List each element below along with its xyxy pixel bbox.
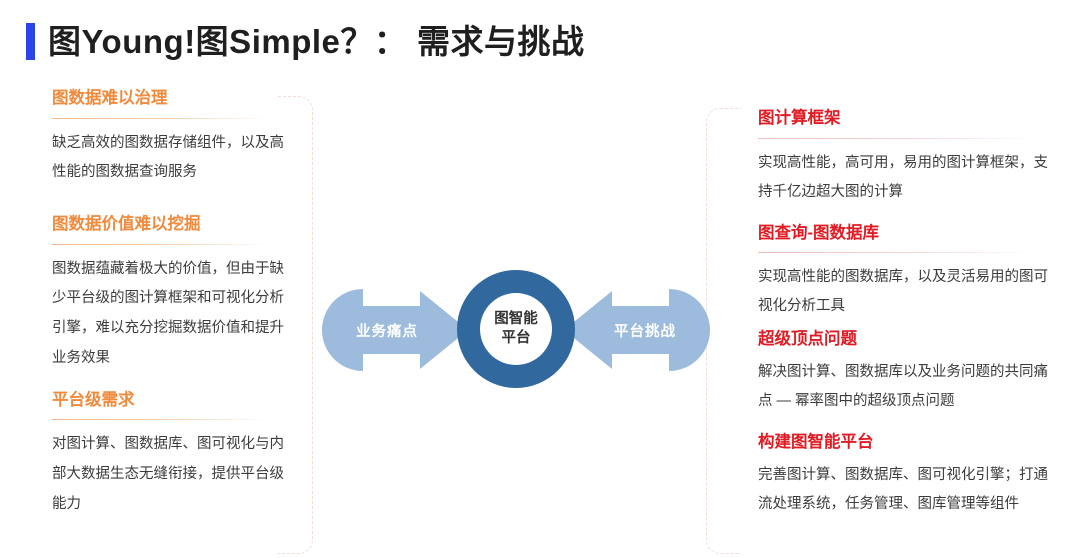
center-donut-inner: 图智能 平台 bbox=[480, 293, 552, 365]
right-bracket-decoration bbox=[706, 108, 741, 554]
center-label-line1: 图智能 bbox=[494, 310, 538, 329]
right-arrow-label: 平台挑战 bbox=[562, 289, 710, 371]
left-block-3-body: 对图计算、图数据库、图可视化与内部大数据生态无缝衔接，提供平台级能力 bbox=[52, 430, 297, 519]
page-title: 图Young!图Simple？： 需求与挑战 bbox=[26, 18, 585, 64]
right-block-2: 图查询-图数据库 实现高性能的图数据库，以及灵活易用的图可视化分析工具 bbox=[758, 223, 1048, 322]
right-spacer-2 bbox=[758, 321, 1048, 329]
right-block-2-divider bbox=[758, 252, 1036, 253]
center-label-line2: 平台 bbox=[502, 329, 531, 348]
left-arrow-label: 业务痛点 bbox=[322, 289, 470, 371]
right-block-4-gap bbox=[758, 453, 1048, 461]
left-arrow: 业务痛点 bbox=[322, 289, 470, 371]
right-spacer-3 bbox=[758, 416, 1048, 432]
right-block-4-heading: 构建图智能平台 bbox=[758, 432, 1048, 453]
left-column: 图数据难以治理 缺乏高效的图数据存储组件，以及高性能的图数据查询服务 图数据价值… bbox=[52, 88, 297, 519]
left-spacer-1 bbox=[52, 188, 297, 214]
right-block-4: 构建图智能平台 完善图计算、图数据库、图可视化引擎；打通流处理系统，任务管理、图… bbox=[758, 432, 1048, 519]
title-accent-bar bbox=[26, 23, 35, 60]
left-spacer-2 bbox=[52, 374, 297, 390]
right-spacer-1 bbox=[758, 207, 1048, 223]
right-column: 图计算框架 实现高性能，高可用，易用的图计算框架，支持千亿边超大图的计算 图查询… bbox=[758, 108, 1048, 519]
right-block-3: 超级顶点问题 解决图计算、图数据库以及业务问题的共同痛点 — 幂率图中的超级顶点… bbox=[758, 329, 1048, 416]
right-block-1: 图计算框架 实现高性能，高可用，易用的图计算框架，支持千亿边超大图的计算 bbox=[758, 108, 1048, 207]
left-block-2-heading: 图数据价值难以挖掘 bbox=[52, 214, 297, 235]
right-arrow: 平台挑战 bbox=[562, 289, 710, 371]
right-block-2-body: 实现高性能的图数据库，以及灵活易用的图可视化分析工具 bbox=[758, 263, 1048, 321]
right-block-2-heading: 图查询-图数据库 bbox=[758, 223, 1048, 244]
center-diagram: 业务痛点 平台挑战 图智能 平台 bbox=[322, 270, 710, 390]
right-block-1-divider bbox=[758, 138, 1036, 139]
right-block-4-body: 完善图计算、图数据库、图可视化引擎；打通流处理系统，任务管理、图库管理等组件 bbox=[758, 461, 1048, 519]
left-block-2: 图数据价值难以挖掘 图数据蕴藏着极大的价值，但由于缺少平台级的图计算框架和可视化… bbox=[52, 214, 297, 374]
right-block-3-heading: 超级顶点问题 bbox=[758, 329, 1048, 350]
right-block-1-body: 实现高性能，高可用，易用的图计算框架，支持千亿边超大图的计算 bbox=[758, 149, 1048, 207]
left-block-2-body: 图数据蕴藏着极大的价值，但由于缺少平台级的图计算框架和可视化分析引擎，难以充分挖… bbox=[52, 255, 297, 374]
right-block-1-heading: 图计算框架 bbox=[758, 108, 1048, 129]
left-block-3-heading: 平台级需求 bbox=[52, 390, 297, 411]
left-block-1: 图数据难以治理 缺乏高效的图数据存储组件，以及高性能的图数据查询服务 bbox=[52, 88, 297, 188]
left-block-1-heading: 图数据难以治理 bbox=[52, 88, 297, 109]
left-block-1-body: 缺乏高效的图数据存储组件，以及高性能的图数据查询服务 bbox=[52, 129, 297, 188]
right-block-3-body: 解决图计算、图数据库以及业务问题的共同痛点 — 幂率图中的超级顶点问题 bbox=[758, 358, 1048, 416]
center-donut: 图智能 平台 bbox=[457, 270, 575, 388]
left-block-3: 平台级需求 对图计算、图数据库、图可视化与内部大数据生态无缝衔接，提供平台级能力 bbox=[52, 390, 297, 520]
left-block-2-divider bbox=[52, 244, 268, 245]
title-text: 图Young!图Simple？： 需求与挑战 bbox=[48, 25, 585, 58]
left-block-3-divider bbox=[52, 419, 268, 420]
left-block-1-divider bbox=[52, 118, 268, 119]
right-block-3-gap bbox=[758, 350, 1048, 358]
